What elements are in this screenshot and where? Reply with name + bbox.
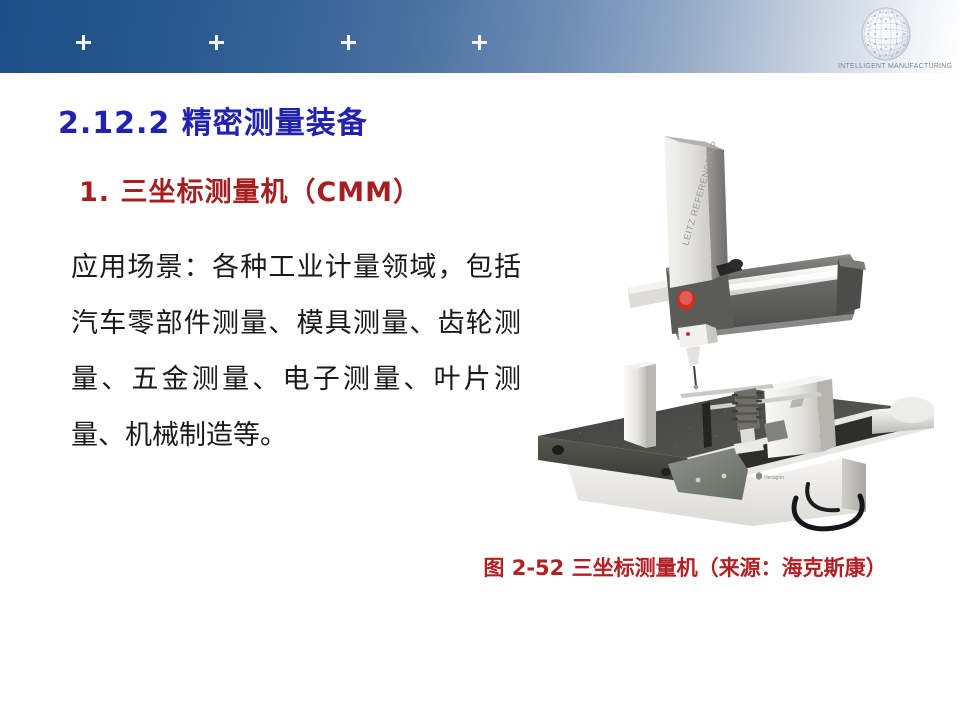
cmm-machine-image: Hexagon [520, 128, 960, 540]
svg-text:Hexagon: Hexagon [764, 475, 784, 481]
brand-logo: INTELLIGENT MANUFACTURING [838, 5, 950, 71]
brand-logo-text: INTELLIGENT MANUFACTURING [838, 63, 950, 70]
body-paragraph: 应用场景：各种工业计量领域，包括汽车零部件测量、模具测量、齿轮测量、五金测量、电… [71, 240, 521, 464]
plus-mark-2 [209, 35, 224, 50]
page-title: 2.12.2 精密测量装备 [58, 98, 368, 142]
sub-heading: 1. 三坐标测量机（CMM） [79, 170, 421, 209]
plus-mark-1 [76, 35, 91, 50]
sphere-mesh-icon [860, 7, 912, 61]
figure-caption: 图 2-52 三坐标测量机（来源：海克斯康） [420, 552, 950, 582]
plus-mark-4 [472, 35, 487, 50]
plus-mark-3 [341, 35, 356, 50]
header-band [0, 0, 960, 73]
